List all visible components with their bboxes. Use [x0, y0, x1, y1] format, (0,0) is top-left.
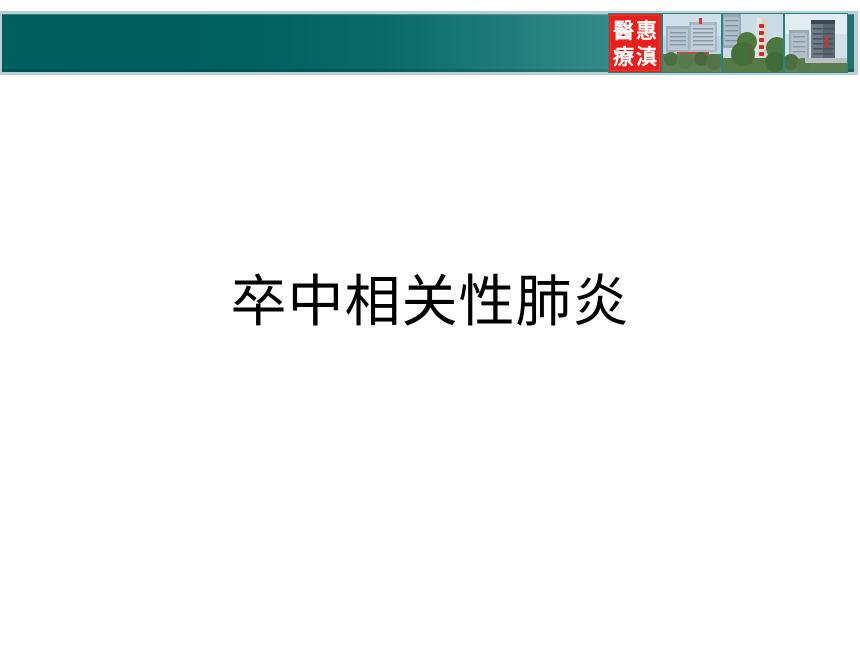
hospital-highrise-photo — [783, 14, 847, 72]
seal-character-3: 療 — [612, 43, 635, 69]
hospital-main-building-photo — [661, 14, 721, 72]
seal-character-4: 滇 — [635, 43, 658, 69]
page-title-text: 卒中相关性肺炎 — [231, 272, 630, 334]
slide-canvas: 醫 惠 療 滇 — [0, 0, 860, 645]
page-title: 卒中相关性肺炎 — [0, 272, 860, 334]
seal-logo-icon: 醫 惠 療 滇 — [609, 14, 661, 72]
organization-logo: 醫 惠 療 滇 — [608, 13, 848, 73]
hospital-tower-monument-photo — [721, 14, 783, 72]
seal-character-1: 醫 — [612, 17, 635, 43]
seal-character-2: 惠 — [635, 17, 658, 43]
